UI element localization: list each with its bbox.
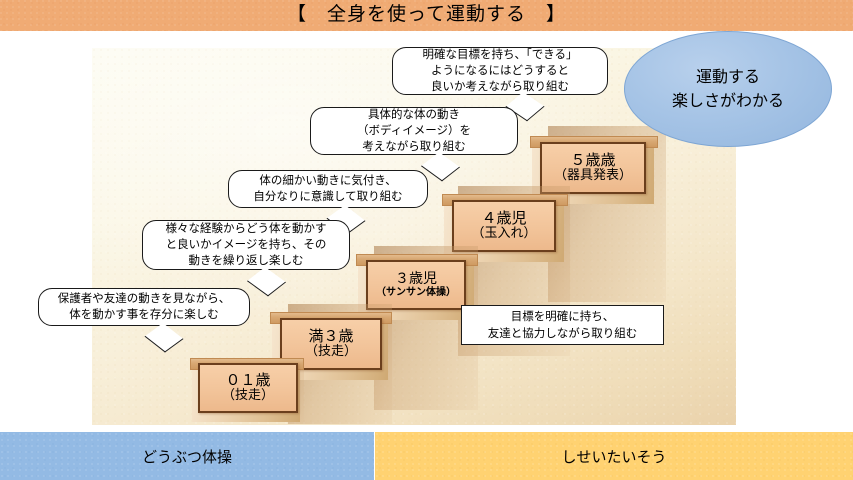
callout-man3-text: 様々な経験からどう体を動かす と良いかイメージを持ち、その 動きを繰り返し楽しむ — [166, 221, 327, 269]
step-3-primary-label: ３歳児 — [395, 271, 437, 287]
footer-left-label: どうぶつ体操 — [142, 446, 232, 467]
page-title: 【 全身を使って運動する 】 — [287, 5, 566, 26]
step-man3-primary-label: 満３歳 — [308, 328, 353, 345]
note-box[interactable]: 目標を明確に持ち、 友達と協力しながら取り組む — [461, 305, 664, 345]
callout-3-text: 体の細かい動きに気付き、 自分なりに意識して取り組む — [253, 173, 402, 205]
footer-bar: どうぶつ体操 しせいたいそう — [0, 432, 853, 480]
goal-ellipse-text: 運動する 楽しさがわかる — [672, 65, 784, 113]
step-4-label-plate[interactable]: ４歳児 （玉入れ） — [452, 200, 556, 252]
step-0-1-label-plate[interactable]: ０１歳 （技走） — [198, 363, 298, 413]
callout-4-text: 具体的な体の動き （ボディイメージ）を 考えながら取り組む — [357, 107, 471, 155]
step-3-label-plate[interactable]: ３歳児 （サンサン体操） — [366, 260, 466, 310]
note-box-text: 目標を明確に持ち、 友達と協力しながら取り組む — [488, 308, 638, 341]
footer-left-cell[interactable]: どうぶつ体操 — [0, 432, 375, 480]
step-0-1-primary-label: ０１歳 — [225, 372, 270, 389]
step-0-1-secondary-label: （技走） — [222, 389, 274, 404]
step-4-primary-label: ４歳児 — [481, 210, 526, 227]
callout-man3-bubble[interactable]: 様々な経験からどう体を動かす と良いかイメージを持ち、その 動きを繰り返し楽しむ — [142, 220, 350, 270]
header-band: 【 全身を使って運動する 】 — [0, 0, 853, 31]
step-5-secondary-label: （器具発表） — [554, 169, 632, 184]
goal-ellipse[interactable]: 運動する 楽しさがわかる — [624, 31, 832, 147]
step-man3-secondary-label: （技走） — [305, 345, 357, 360]
footer-right-cell[interactable]: しせいたいそう — [375, 432, 853, 480]
callout-4-bubble[interactable]: 具体的な体の動き （ボディイメージ）を 考えながら取り組む — [310, 107, 518, 155]
callout-0-1-bubble[interactable]: 保護者や友達の動きを見ながら、 体を動かす事を存分に楽しむ — [38, 288, 250, 326]
step-3-secondary-label: （サンサン体操） — [376, 287, 456, 299]
footer-right-label: しせいたいそう — [561, 446, 666, 467]
callout-3-bubble[interactable]: 体の細かい動きに気付き、 自分なりに意識して取り組む — [228, 170, 428, 208]
callout-0-1-text: 保護者や友達の動きを見ながら、 体を動かす事を存分に楽しむ — [58, 291, 231, 323]
callout-5-bubble[interactable]: 明確な目標を持ち、「できる」 ようになるにはどうすると 良いか考えながら取り組む — [392, 47, 608, 95]
step-5-primary-label: ５歳歳 — [570, 152, 615, 169]
callout-5-text: 明確な目標を持ち、「できる」 ようになるにはどうすると 良いか考えながら取り組む — [422, 47, 577, 95]
step-4-secondary-label: （玉入れ） — [471, 227, 536, 242]
